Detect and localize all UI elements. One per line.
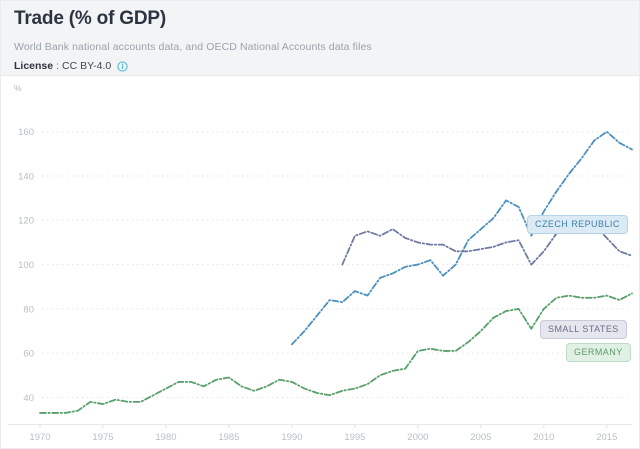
license-label: License xyxy=(14,59,53,73)
series-line-czech-republic xyxy=(292,132,632,345)
x-tick-label: 2005 xyxy=(470,432,491,443)
x-tick-label: 1975 xyxy=(92,432,113,443)
series-label-czech-republic[interactable]: CZECH REPUBLIC xyxy=(527,215,628,234)
x-tick-label: 2015 xyxy=(596,432,617,443)
gridlines xyxy=(42,132,628,398)
series-lines xyxy=(40,132,632,413)
chart-page: Trade (% of GDP) World Bank national acc… xyxy=(0,0,640,449)
license-separator: : xyxy=(56,59,59,73)
license-row: License : CC BY-4.0 xyxy=(14,59,626,73)
series-label-small-states[interactable]: SMALL STATES xyxy=(540,320,627,339)
x-tick-label: 1970 xyxy=(29,432,50,443)
y-tick-label: 160 xyxy=(18,127,34,138)
x-tick-label: 2000 xyxy=(407,432,428,443)
y-tick-label: 140 xyxy=(18,171,34,182)
series-label-germany[interactable]: GERMANY xyxy=(566,343,631,362)
source-subtitle: World Bank national accounts data, and O… xyxy=(14,40,626,54)
x-tick-label: 1980 xyxy=(155,432,176,443)
y-tick-label: 60 xyxy=(23,349,34,360)
y-axis-title: % xyxy=(14,83,22,93)
trade-gdp-line-chart: 406080100120140160 197019751980198519901… xyxy=(0,76,640,449)
license-value[interactable]: CC BY-4.0 xyxy=(62,59,111,73)
x-tick-label: 1990 xyxy=(281,432,302,443)
y-tick-label: 100 xyxy=(18,260,34,271)
x-axis-tick-labels: 1970197519801985199019952000200520102015 xyxy=(29,432,617,443)
x-axis-tick-marks xyxy=(40,425,607,428)
page-title: Trade (% of GDP) xyxy=(14,7,626,31)
chart-header: Trade (% of GDP) World Bank national acc… xyxy=(0,0,640,76)
x-tick-label: 1995 xyxy=(344,432,365,443)
x-tick-label: 1985 xyxy=(218,432,239,443)
chart-plot-panel: 406080100120140160 197019751980198519901… xyxy=(0,76,640,449)
y-axis-tick-labels: 406080100120140160 xyxy=(18,127,34,404)
info-circle-icon[interactable] xyxy=(117,61,128,72)
x-tick-label: 2010 xyxy=(533,432,554,443)
y-tick-label: 80 xyxy=(23,304,34,315)
y-tick-label: 120 xyxy=(18,216,34,227)
y-tick-label: 40 xyxy=(23,393,34,404)
